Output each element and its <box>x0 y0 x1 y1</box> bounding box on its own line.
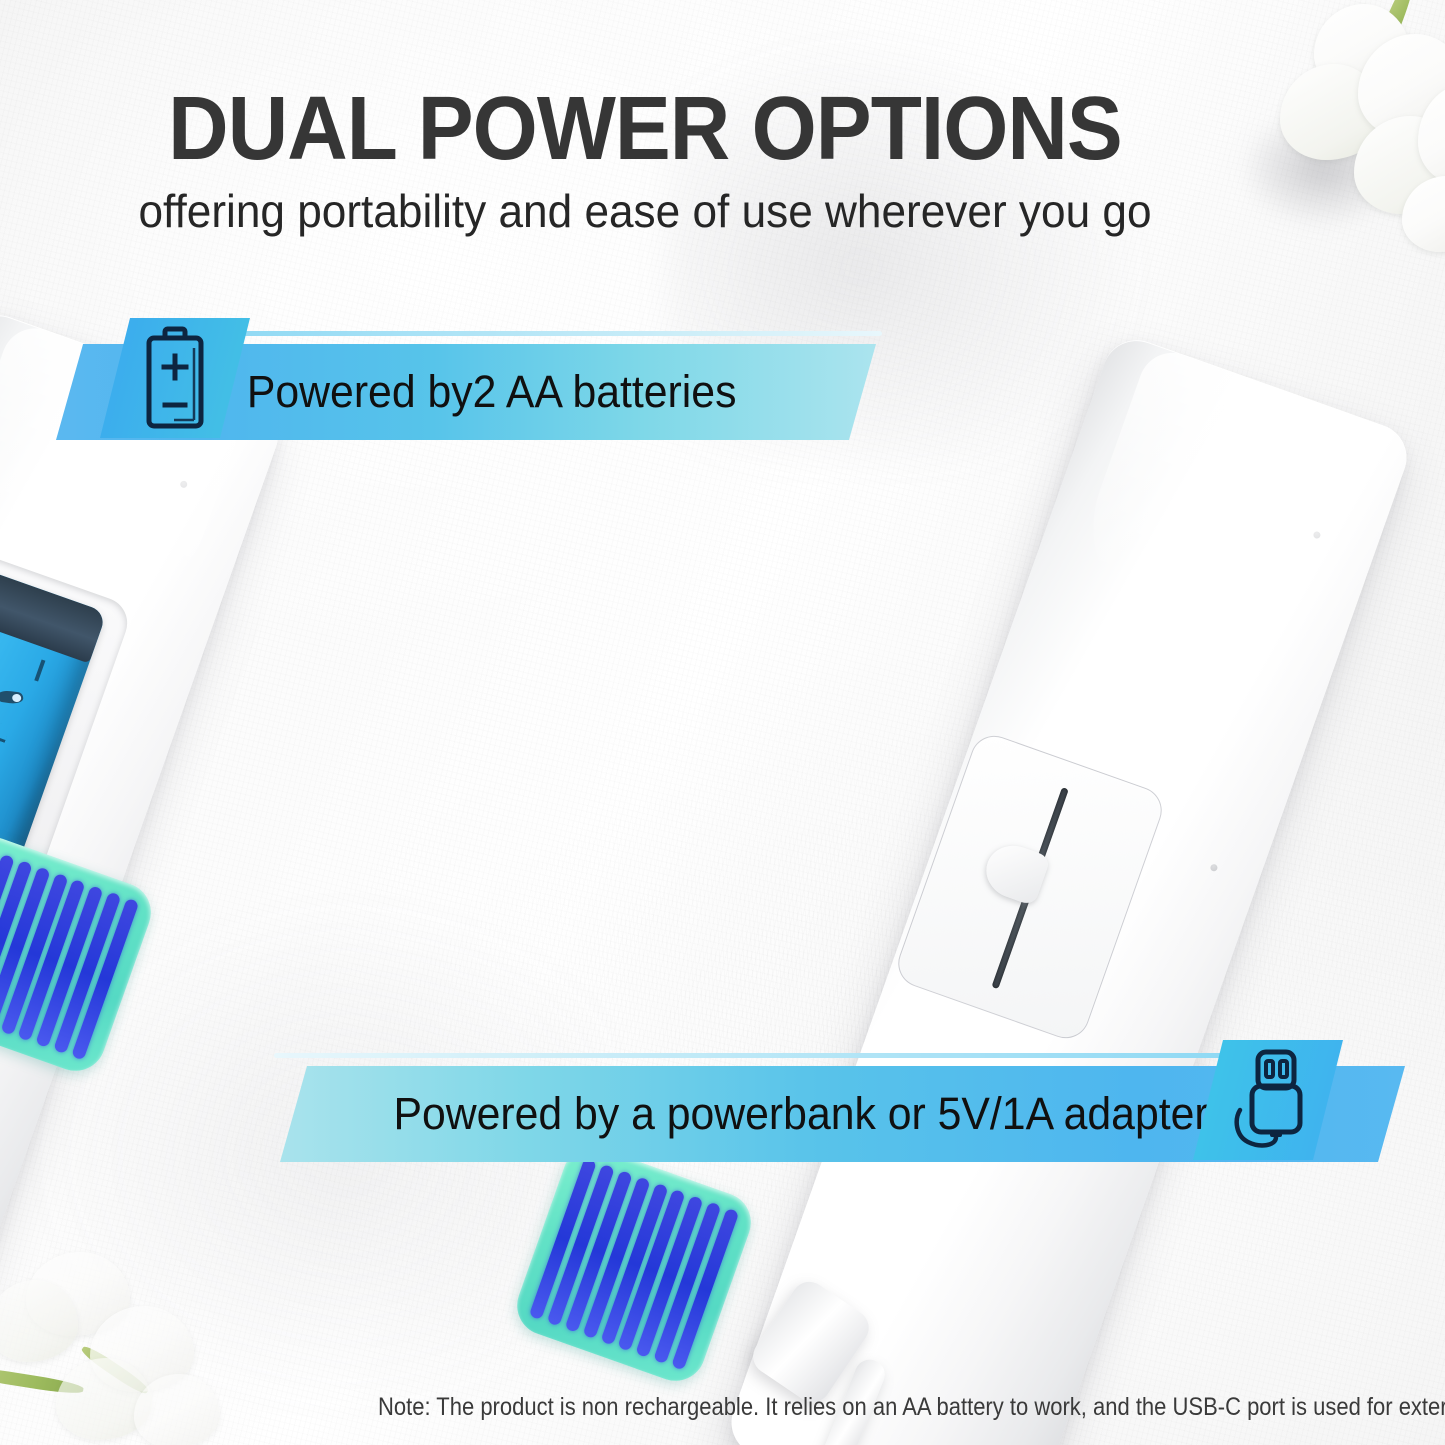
device-screw-dot <box>179 480 188 489</box>
banner-accent-line <box>226 331 882 336</box>
device-screw-dot <box>1312 531 1321 540</box>
feature-banner-usb: Powered by a powerbank or 5V/1A adapter <box>280 1066 1405 1162</box>
battery-arrow-mark <box>0 690 24 705</box>
battery-negative-terminal <box>0 563 107 664</box>
feature-banner-battery: Powered by2 AA batteries <box>56 344 876 440</box>
banner-label-usb: Powered by a powerbank or 5V/1A adapter <box>393 1088 1208 1140</box>
page-title: DUAL POWER OPTIONS <box>45 86 1245 172</box>
device-screw-dot <box>1209 863 1218 872</box>
page-subtitle: offering portability and ease of use whe… <box>26 188 1264 234</box>
footer-note: Note: The product is non rechargeable. I… <box>378 1392 1434 1422</box>
battery-minus-mark <box>34 659 45 681</box>
flowers-bottom-left <box>0 1246 210 1445</box>
grille-slats <box>529 1157 740 1370</box>
marketing-image: + <box>0 0 1445 1445</box>
banner-label-battery: Powered by2 AA batteries <box>247 366 737 418</box>
battery-symbol-mark <box>0 721 10 743</box>
banner-accent-line <box>274 1053 1225 1058</box>
headline-block: DUAL POWER OPTIONS offering portability … <box>0 86 1290 234</box>
